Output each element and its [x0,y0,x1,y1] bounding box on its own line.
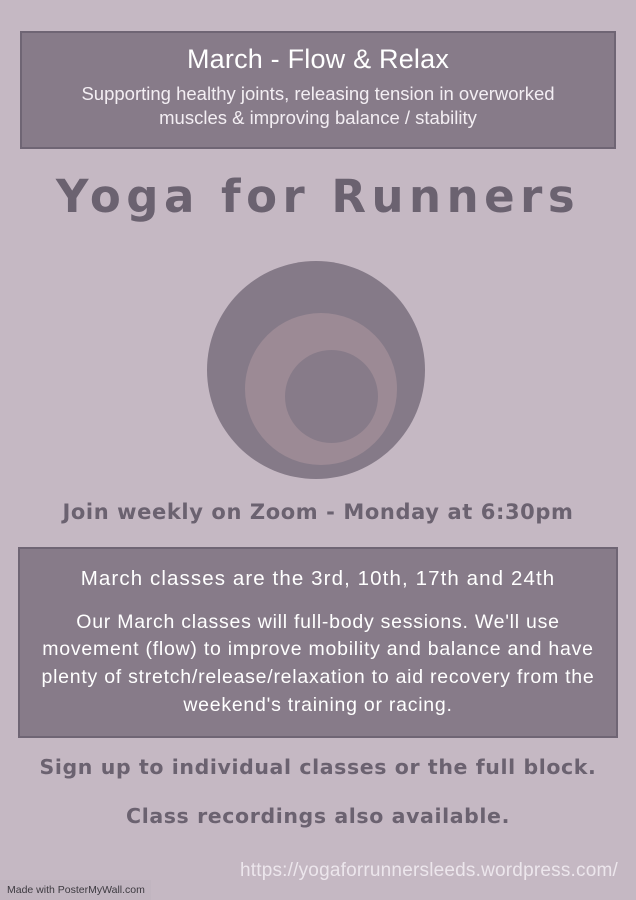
header-title: March - Flow & Relax [187,45,449,75]
concentric-circles-graphic [207,261,425,479]
signup-line: Sign up to individual classes or the ful… [0,757,636,778]
postermywall-watermark: Made with PosterMyWall.com [0,880,151,900]
class-dates: March classes are the 3rd, 10th, 17th an… [81,567,556,592]
zoom-schedule-line: Join weekly on Zoom - Monday at 6:30pm [0,502,636,523]
class-description: Our March classes will full-body session… [34,609,602,721]
poster-canvas: March - Flow & Relax Supporting healthy … [0,0,636,900]
recordings-line: Class recordings also available. [0,806,636,827]
header-banner: March - Flow & Relax Supporting healthy … [20,31,616,149]
circle-inner [285,350,378,443]
website-url[interactable]: https://yogaforrunnersleeds.wordpress.co… [240,861,618,880]
details-panel: March classes are the 3rd, 10th, 17th an… [18,547,618,738]
page-title: Yoga for Runners [0,174,636,219]
header-subtitle: Supporting healthy joints, releasing ten… [58,82,578,131]
